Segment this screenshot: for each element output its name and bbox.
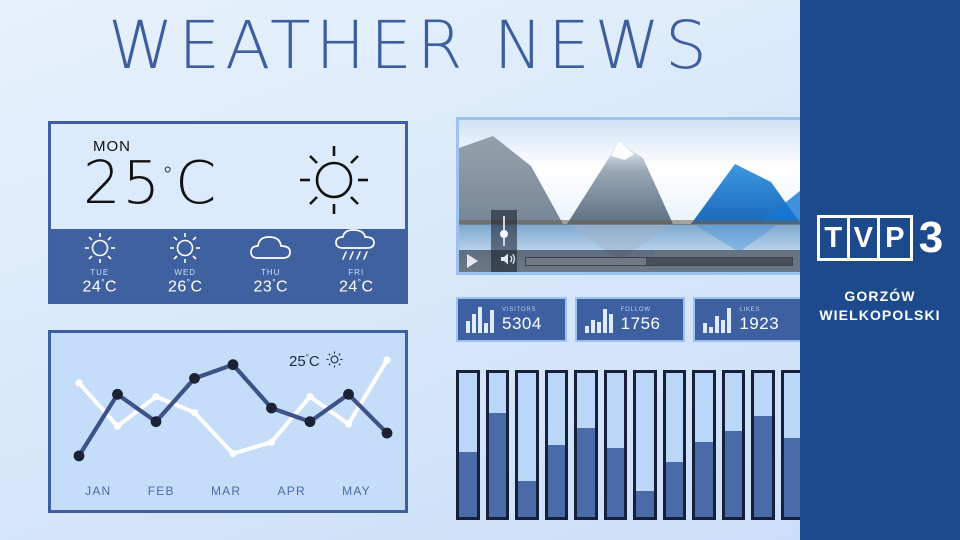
gauge-bar-fill xyxy=(548,445,566,517)
chart-point xyxy=(305,416,316,427)
tvp-letter-t: T xyxy=(820,218,850,258)
weather-current-unit: C xyxy=(175,148,218,217)
gauge-bar-fill xyxy=(489,413,507,517)
degree-symbol: ° xyxy=(162,163,175,188)
forecast-temperature: 26°C xyxy=(168,278,203,296)
video-controls-bar xyxy=(459,250,801,272)
gauge-bar-fill xyxy=(666,462,684,517)
forecast-day: WED xyxy=(174,268,196,277)
chart-point xyxy=(306,393,313,400)
sun-icon xyxy=(83,233,117,263)
chart-point xyxy=(266,403,277,414)
gauge-bar xyxy=(456,370,480,520)
forecast-value: 24 xyxy=(339,279,358,296)
forecast-unit: C xyxy=(361,279,373,296)
chart-point xyxy=(75,379,82,386)
forecast-item: THU 23°C xyxy=(228,233,314,296)
tvp-letter-v: V xyxy=(850,218,880,258)
gauge-bar-fill xyxy=(607,448,625,517)
tvp-channel-number: 3 xyxy=(919,216,943,260)
chart-point xyxy=(383,357,390,364)
gauge-bar-fill xyxy=(725,431,743,517)
chart-point xyxy=(191,409,198,416)
chart-point xyxy=(112,389,123,400)
forecast-unit: C xyxy=(105,279,117,296)
bar-chart-icon xyxy=(466,307,494,333)
chart-point xyxy=(229,450,236,457)
chart-x-axis-labels: JAN FEB MAR APR MAY xyxy=(51,484,405,498)
x-tick-label: FEB xyxy=(148,484,175,498)
forecast-unit: C xyxy=(276,279,288,296)
tvp-logo: T V P 3 xyxy=(817,215,943,261)
weather-current: MON 25°C xyxy=(51,124,405,229)
brand-city-line1: GORZÓW xyxy=(819,287,940,306)
chart-badge-value: 25 xyxy=(289,353,306,370)
gauge-bar-fill xyxy=(754,416,772,517)
chart-badge-text: 25°C xyxy=(289,353,320,370)
forecast-temperature: 24°C xyxy=(339,278,374,296)
x-tick-label: APR xyxy=(278,484,306,498)
forecast-day: TUE xyxy=(90,268,109,277)
forecast-item: FRI 24°C xyxy=(314,233,400,296)
chart-point xyxy=(228,359,239,370)
sun-icon xyxy=(297,143,371,222)
stat-meta: FOLLOW 1756 xyxy=(621,307,661,332)
rain-icon xyxy=(334,233,378,263)
tvp-letter-p: P xyxy=(880,218,910,258)
forecast-unit: C xyxy=(190,279,202,296)
sun-icon xyxy=(168,233,202,263)
chart-badge-unit: C xyxy=(309,353,320,370)
chart-point xyxy=(152,393,159,400)
forecast-value: 24 xyxy=(82,279,101,296)
stat-value: 1756 xyxy=(621,315,661,332)
gauge-bar xyxy=(722,370,746,520)
bar-chart-icon xyxy=(703,307,731,333)
weather-forecast-row: TUE 24°C WED 26°C THU xyxy=(51,229,405,301)
weather-card: MON 25°C xyxy=(48,121,408,304)
chart-line-light-series xyxy=(79,360,387,453)
bar-chart-icon xyxy=(585,307,613,333)
stat-value: 5304 xyxy=(502,315,542,332)
gauge-bar-fill xyxy=(695,442,713,517)
stats-row: VISITORS 5304 FOLLOW 1756 LIKES 1923 xyxy=(456,297,804,342)
video-player[interactable] xyxy=(456,117,804,275)
stat-card-likes[interactable]: LIKES 1923 xyxy=(693,297,804,342)
line-chart-card: 25°C JAN FEB MAR APR MAY xyxy=(48,330,408,513)
gauge-bar xyxy=(692,370,716,520)
forecast-item: TUE 24°C xyxy=(57,233,143,296)
gauge-bar-fill xyxy=(784,438,802,517)
forecast-day: FRI xyxy=(348,268,364,277)
chart-point xyxy=(268,439,275,446)
gauge-bar xyxy=(545,370,569,520)
x-tick-label: MAR xyxy=(211,484,241,498)
stat-card-follow[interactable]: FOLLOW 1756 xyxy=(575,297,686,342)
page-title: WEATHER NEWS xyxy=(0,2,820,88)
sun-icon xyxy=(326,351,343,372)
gauge-bar xyxy=(486,370,510,520)
forecast-temperature: 24°C xyxy=(82,278,117,296)
weather-current-temperature: 25°C xyxy=(83,148,218,217)
gauge-bar-fill xyxy=(577,428,595,517)
brand-city-line2: WIELKOPOLSKI xyxy=(819,306,940,325)
gauge-bar xyxy=(633,370,657,520)
tvp-letter-boxes: T V P xyxy=(817,215,913,261)
chart-point xyxy=(151,416,162,427)
stat-label: LIKES xyxy=(739,307,760,313)
chart-point xyxy=(189,373,200,384)
weather-current-value: 25 xyxy=(83,148,162,217)
gauge-bar xyxy=(574,370,598,520)
cloud-icon xyxy=(249,233,293,263)
stat-label: FOLLOW xyxy=(621,307,651,313)
gauge-bar-fill xyxy=(518,481,536,517)
forecast-day: THU xyxy=(261,268,280,277)
gauge-bar-fill xyxy=(459,452,477,517)
chart-line-dark-series xyxy=(79,365,387,456)
gauge-bar xyxy=(604,370,628,520)
forecast-value: 26 xyxy=(168,279,187,296)
gauge-bar xyxy=(515,370,539,520)
gauge-bar-fill xyxy=(636,491,654,517)
stat-meta: LIKES 1923 xyxy=(739,307,779,332)
gauge-bar xyxy=(663,370,687,520)
brand-panel: T V P 3 GORZÓW WIELKOPOLSKI xyxy=(800,0,960,540)
chart-temperature-badge: 25°C xyxy=(289,351,343,372)
x-tick-label: MAY xyxy=(342,484,371,498)
volume-slider-knob[interactable] xyxy=(500,230,508,238)
stat-label: VISITORS xyxy=(502,307,536,313)
chart-point xyxy=(345,420,352,427)
gauge-bar xyxy=(751,370,775,520)
stat-meta: VISITORS 5304 xyxy=(502,307,542,332)
brand-city: GORZÓW WIELKOPOLSKI xyxy=(819,287,940,325)
x-tick-label: JAN xyxy=(85,484,111,498)
gauge-bars-row xyxy=(456,368,804,520)
chart-point xyxy=(343,389,354,400)
stat-card-visitors[interactable]: VISITORS 5304 xyxy=(456,297,567,342)
stat-value: 1923 xyxy=(739,315,779,332)
forecast-value: 23 xyxy=(253,279,272,296)
speaker-icon[interactable] xyxy=(500,252,517,271)
chart-point xyxy=(114,423,121,430)
chart-point xyxy=(74,450,85,461)
forecast-item: WED 26°C xyxy=(143,233,229,296)
chart-point xyxy=(382,428,393,439)
forecast-temperature: 23°C xyxy=(253,278,288,296)
play-icon[interactable] xyxy=(467,254,478,268)
